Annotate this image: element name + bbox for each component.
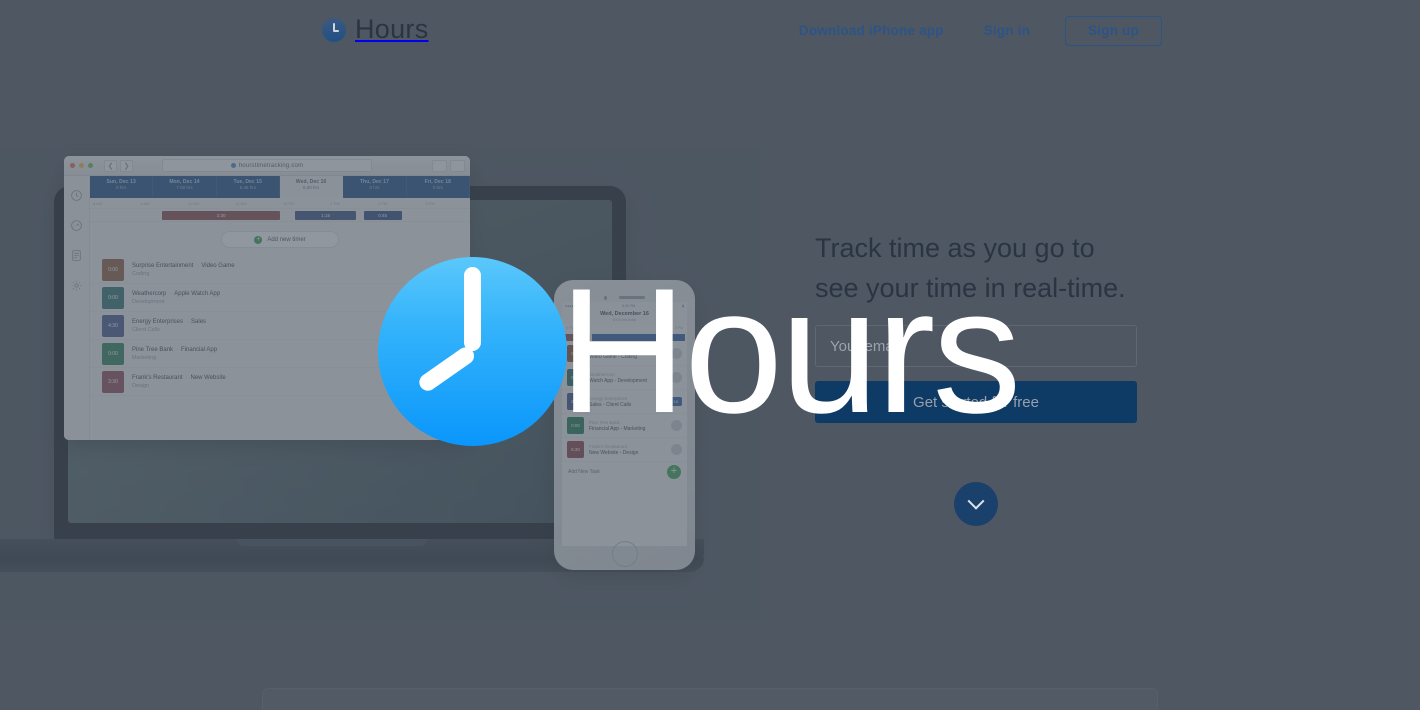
device-illustration: ❮ ❯ hourstimetracking.com [0, 150, 760, 620]
running-timer-chip: 1:00:15 [661, 397, 682, 406]
url-text: hourstimetracking.com [239, 163, 304, 169]
hour-label: 12 PM [280, 198, 328, 208]
phone-bar [592, 334, 685, 341]
battery-icon: ▮ [682, 304, 684, 308]
hour-label: 2 PM [375, 198, 423, 208]
timer-hours-swatch: 0:00 [102, 343, 124, 365]
task-detail: Video Game - Coding [589, 354, 637, 360]
get-started-button[interactable]: Get started for free [815, 381, 1137, 423]
timer-toggle-icon[interactable] [445, 375, 458, 388]
sign-in-link[interactable]: Sign in [964, 16, 1050, 46]
task-hours-swatch: 0:00 [567, 417, 584, 434]
timer-toggle-icon[interactable] [445, 319, 458, 332]
task-toggle-icon[interactable] [671, 420, 682, 431]
phone-status-bar: ●●●●● 5:00 PM ▮ [562, 302, 687, 310]
phone-bar [562, 334, 590, 341]
share-icon[interactable] [432, 160, 447, 172]
day-tab[interactable]: Tue, Dec 15 6.45 hrs [217, 176, 280, 198]
task-hours-swatch: 0:00 [567, 369, 584, 386]
hour-label: 10 AM [185, 198, 233, 208]
timer-task: Design [132, 383, 226, 389]
task-detail: Sales - Client Calls [589, 402, 631, 408]
landing-page: Hours Download iPhone app Sign in Sign u… [0, 0, 1420, 710]
timer-toggle-icon[interactable] [445, 291, 458, 304]
phone-hour-ruler: 4 PM 5 PM [562, 325, 687, 333]
day-tab[interactable]: Sun, Dec 13 0 hrs [90, 176, 153, 198]
add-new-task-button[interactable]: Add New Task + [562, 462, 687, 482]
hour-ruler: 8 AM9 AM10 AM11 AM12 PM1 PM2 PM3 PM [90, 198, 470, 209]
task-toggle-icon[interactable] [671, 348, 682, 359]
day-tab-hours: 6.30 hrs [280, 185, 342, 190]
download-iphone-app-link[interactable]: Download iPhone app [779, 16, 964, 46]
day-tab-hours: 0 hrs [343, 185, 405, 190]
plus-icon: + [667, 465, 681, 479]
settings-icon[interactable] [450, 160, 465, 172]
task-detail: New Website - Design [589, 450, 638, 456]
url-bar[interactable]: hourstimetracking.com [162, 159, 372, 172]
add-new-timer-button[interactable]: + Add new timer [221, 231, 339, 248]
phone-task-row[interactable]: 2:30 Energy Enterprises Sales - Client C… [562, 390, 687, 414]
app-body: Sun, Dec 13 0 hrs Mon, Dec 14 7.00 hrs T… [64, 176, 470, 440]
phone-task-row[interactable]: 5:30 Frank's Restaurant New Website - De… [562, 438, 687, 462]
phone-task-list: 0:00 Surprise Entertainment Video Game -… [562, 342, 687, 462]
timer-title: Energy Enterprises·Sales [132, 319, 206, 325]
headline-line-1: Track time as you go to [815, 233, 1095, 263]
browser-nav: ❮ ❯ [104, 160, 133, 172]
browser-toolbar: ❮ ❯ hourstimetracking.com [64, 156, 470, 176]
task-client: Frank's Restaurant [589, 444, 638, 449]
timer-row[interactable]: 0:00 Pine Tree Bank·Financial App Market… [90, 340, 470, 368]
task-toggle-icon[interactable] [671, 372, 682, 383]
day-tab[interactable]: Wed, Dec 16 6.30 hrs [280, 176, 343, 198]
clock-icon [322, 18, 346, 42]
timer-task: Marketing [132, 355, 217, 361]
timer-hours-swatch: 0:00 [102, 287, 124, 309]
timer-title: Weathercorp·Apple Watch App [132, 291, 220, 297]
task-client: Pine Tree Bank [589, 420, 645, 425]
timeline-bar[interactable]: 2:30 [162, 211, 280, 220]
task-hours-swatch: 5:30 [567, 441, 584, 458]
timer-row[interactable]: 4:30 Energy Enterprises·Sales Client Cal… [90, 312, 470, 340]
timeline-bars: 2:301:150:45 [90, 209, 470, 222]
day-tab-hours: 0 hrs [90, 185, 152, 190]
phone-task-row[interactable]: 0:00 Surprise Entertainment Video Game -… [562, 342, 687, 366]
timer-row[interactable]: 0:00 Weathercorp·Apple Watch App Develop… [90, 284, 470, 312]
phone-timeline [562, 333, 687, 342]
brand-logo[interactable]: Hours [322, 14, 429, 45]
timer-task: Client Calls [132, 327, 206, 333]
hero-section: Track time as you go to see your time in… [815, 228, 1137, 423]
phone-header-total: 8:00 hrs total [562, 317, 687, 322]
site-header: Hours Download iPhone app Sign in Sign u… [0, 0, 1420, 62]
timer-title: Pine Tree Bank·Financial App [132, 347, 217, 353]
hour-label: 3 PM [423, 198, 471, 208]
scroll-down-button[interactable] [954, 482, 998, 526]
browser-actions [432, 160, 465, 172]
app-sidebar [64, 176, 90, 440]
browser-window: ❮ ❯ hourstimetracking.com [64, 156, 470, 440]
phone-task-row[interactable]: 0:00 Weathercorp Watch App - Development [562, 366, 687, 390]
task-hours-swatch: 2:30 [567, 393, 584, 410]
timer-list: 0:00 Surprise Entertainment·Video Game C… [90, 256, 470, 396]
forward-icon[interactable]: ❯ [120, 160, 133, 172]
plus-icon: + [254, 236, 262, 244]
add-new-task-label: Add New Task [568, 469, 600, 475]
hour-label: 1 PM [328, 198, 376, 208]
hour-label: 11 AM [233, 198, 281, 208]
timeline-bar[interactable]: 1:15 [295, 211, 356, 220]
headline-line-2: see your time in real-time. [815, 273, 1126, 303]
status-time: 5:00 PM [622, 304, 635, 308]
back-icon[interactable]: ❮ [104, 160, 117, 172]
ruler-left-label: 4 PM [566, 326, 574, 332]
phone-device: ●●●●● 5:00 PM ▮ Wed, December 16 8:00 hr… [554, 280, 695, 570]
task-client: Surprise Entertainment [589, 348, 637, 353]
timer-task: Coding [132, 271, 235, 277]
site-favicon [231, 163, 236, 168]
timer-toggle-icon[interactable] [445, 263, 458, 276]
task-client: Weathercorp [589, 372, 647, 377]
day-tabs: Sun, Dec 13 0 hrs Mon, Dec 14 7.00 hrs T… [90, 176, 470, 198]
phone-screen: ●●●●● 5:00 PM ▮ Wed, December 16 8:00 hr… [562, 302, 687, 546]
task-hours-swatch: 0:00 [567, 345, 584, 362]
day-tab[interactable]: Fri, Dec 18 0 hrs [407, 176, 470, 198]
timer-row[interactable]: 3:30 Frank's Restaurant·New Website Desi… [90, 368, 470, 396]
speaker-grille [619, 296, 645, 299]
add-new-timer-label: Add new timer [267, 237, 305, 243]
hour-label: 8 AM [90, 198, 138, 208]
phone-task-row[interactable]: 0:00 Pine Tree Bank Financial App - Mark… [562, 414, 687, 438]
ruler-right-label: 5 PM [675, 326, 683, 332]
gauge-icon[interactable] [70, 219, 83, 232]
maximize-icon[interactable] [88, 163, 93, 168]
timeline-bar[interactable]: 0:45 [364, 211, 402, 220]
task-detail: Watch App - Development [589, 378, 647, 384]
timer-title: Surprise Entertainment·Video Game [132, 263, 235, 269]
day-tab[interactable]: Thu, Dec 17 0 hrs [343, 176, 406, 198]
hour-label: 9 AM [138, 198, 186, 208]
brand-name: Hours [355, 14, 429, 45]
sign-up-button[interactable]: Sign up [1065, 16, 1162, 46]
camera-icon [604, 296, 608, 300]
clock-icon[interactable] [70, 189, 83, 202]
timer-task: Development [132, 299, 220, 305]
day-tab-hours: 7.00 hrs [153, 185, 215, 190]
gear-icon[interactable] [70, 279, 83, 292]
signal-icon: ●●●●● [565, 304, 576, 308]
chevron-down-icon [968, 493, 985, 510]
timer-row[interactable]: 0:00 Surprise Entertainment·Video Game C… [90, 256, 470, 284]
day-tab-hours: 0 hrs [407, 185, 469, 190]
task-toggle-icon[interactable] [671, 444, 682, 455]
close-icon[interactable] [70, 163, 75, 168]
report-icon[interactable] [70, 249, 83, 262]
timer-title: Frank's Restaurant·New Website [132, 375, 226, 381]
timer-hours-swatch: 3:30 [102, 371, 124, 393]
task-client: Energy Enterprises [589, 396, 631, 401]
home-button[interactable] [612, 541, 638, 567]
day-tab-hours: 6.45 hrs [217, 185, 279, 190]
phone-day-header: Wed, December 16 8:00 hrs total [562, 310, 687, 325]
timer-toggle-icon[interactable] [445, 347, 458, 360]
app-main: Sun, Dec 13 0 hrs Mon, Dec 14 7.00 hrs T… [90, 176, 470, 440]
minimize-icon[interactable] [79, 163, 84, 168]
day-tab[interactable]: Mon, Dec 14 7.00 hrs [153, 176, 216, 198]
timer-hours-swatch: 0:00 [102, 259, 124, 281]
timer-hours-swatch: 4:30 [102, 315, 124, 337]
task-detail: Financial App - Marketing [589, 426, 645, 432]
next-section-peek [262, 688, 1158, 710]
main-nav: Download iPhone app Sign in Sign up [779, 16, 1162, 46]
page-title: Track time as you go to see your time in… [815, 228, 1137, 308]
email-input[interactable] [815, 325, 1137, 367]
